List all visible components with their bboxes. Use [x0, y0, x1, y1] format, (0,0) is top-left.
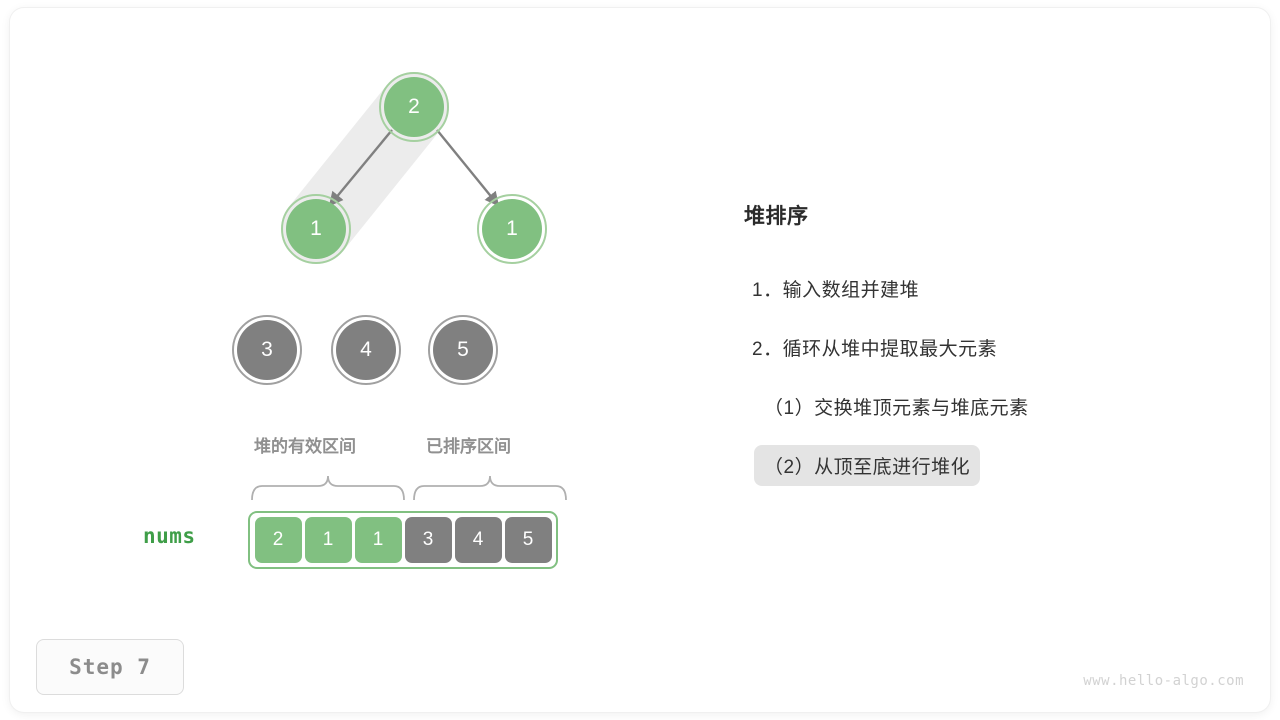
- tree-node-sorted-4[interactable]: 4: [336, 320, 396, 380]
- tree-edge-right: [437, 130, 498, 205]
- cell-value: 1: [323, 529, 334, 551]
- range-braces-svg: [248, 470, 578, 506]
- array-label-nums: nums: [143, 524, 196, 548]
- page-title: 堆排序: [744, 200, 1212, 230]
- step-item-2-1: （1）交换堆顶元素与堆底元素: [754, 386, 1039, 427]
- step-badge: Step 7: [36, 639, 184, 695]
- node-value: 5: [457, 338, 469, 362]
- array-cell-3[interactable]: 3: [405, 517, 452, 563]
- brace-label-sorted-range: 已排序区间: [426, 432, 511, 457]
- slide-canvas: 2 1 1 3 4 5 堆的有效区间 已排序区间 nums 2: [0, 0, 1280, 720]
- tree-node-left-child[interactable]: 1: [286, 199, 346, 259]
- step-item-2: 2．循环从堆中提取最大元素: [742, 327, 1007, 368]
- node-value: 3: [261, 338, 273, 362]
- cell-value: 3: [423, 529, 434, 551]
- node-value: 2: [408, 95, 420, 119]
- array-cell-4[interactable]: 4: [455, 517, 502, 563]
- node-value: 1: [506, 217, 518, 241]
- tree-node-sorted-5[interactable]: 5: [433, 320, 493, 380]
- node-value: 4: [360, 338, 372, 362]
- brace-heap-range: [252, 476, 404, 500]
- step-item-1: 1．输入数组并建堆: [742, 268, 929, 309]
- watermark: www.hello-algo.com: [1083, 673, 1244, 689]
- algorithm-steps-panel: 堆排序 1．输入数组并建堆 2．循环从堆中提取最大元素 （1）交换堆顶元素与堆底…: [742, 200, 1212, 504]
- array-cell-5[interactable]: 5: [505, 517, 552, 563]
- brace-label-heap-range: 堆的有效区间: [254, 432, 356, 457]
- array-cell-1[interactable]: 1: [305, 517, 352, 563]
- cell-value: 2: [273, 529, 284, 551]
- cell-value: 1: [373, 529, 384, 551]
- brace-sorted-range: [414, 476, 566, 500]
- step-item-2-2-active: （2）从顶至底进行堆化: [754, 445, 980, 486]
- tree-node-right-child[interactable]: 1: [482, 199, 542, 259]
- tree-node-sorted-3[interactable]: 3: [237, 320, 297, 380]
- cell-value: 4: [473, 529, 484, 551]
- array-cell-0[interactable]: 2: [255, 517, 302, 563]
- tree-node-root[interactable]: 2: [384, 77, 444, 137]
- cell-value: 5: [523, 529, 534, 551]
- array-container: 2 1 1 3 4 5: [248, 511, 558, 569]
- node-value: 1: [310, 217, 322, 241]
- array-cell-2[interactable]: 1: [355, 517, 402, 563]
